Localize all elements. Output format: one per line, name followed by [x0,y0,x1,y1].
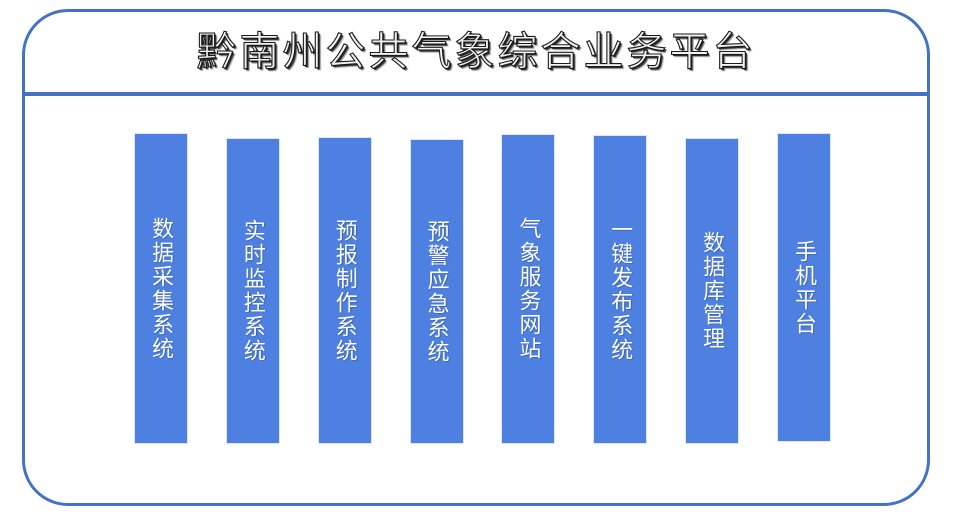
page-title: 黔南州公共气象综合业务平台 [197,32,756,72]
subsystem-bar[interactable]: 预警应急系统 [410,139,464,444]
subsystem-bar[interactable]: 气象服务网站 [501,134,555,444]
subsystem-bar[interactable]: 实时监控系统 [226,138,280,444]
subsystem-bar-label: 预报制作系统 [331,219,359,363]
subsystem-bar[interactable]: 手机平台 [777,133,831,442]
diagram-canvas: 黔南州公共气象综合业务平台 数据采集系统 实时监控系统 预报制作系统 预警应急系… [0,0,953,515]
subsystem-bar-label: 气象服务网站 [514,217,542,361]
subsystem-bar-label: 预警应急系统 [422,220,450,364]
subsystem-bar[interactable]: 数据采集系统 [134,133,188,444]
subsystem-bar-label: 手机平台 [790,240,818,336]
subsystem-bar[interactable]: 一键发布系统 [593,135,647,444]
subsystem-bar[interactable]: 预报制作系统 [318,137,372,444]
subsystem-bar-label: 数据采集系统 [147,217,175,361]
title-area: 黔南州公共气象综合业务平台 [25,12,927,92]
subsystem-bar[interactable]: 数据库管理 [685,138,739,444]
subsystem-bar-label: 实时监控系统 [239,219,267,363]
subsystem-bar-label: 数据库管理 [698,231,726,351]
subsystem-bar-label: 一键发布系统 [606,218,634,362]
subsystem-bar-row: 数据采集系统 实时监控系统 预报制作系统 预警应急系统 气象服务网站 一键发布系… [134,133,831,444]
title-divider [22,92,930,96]
